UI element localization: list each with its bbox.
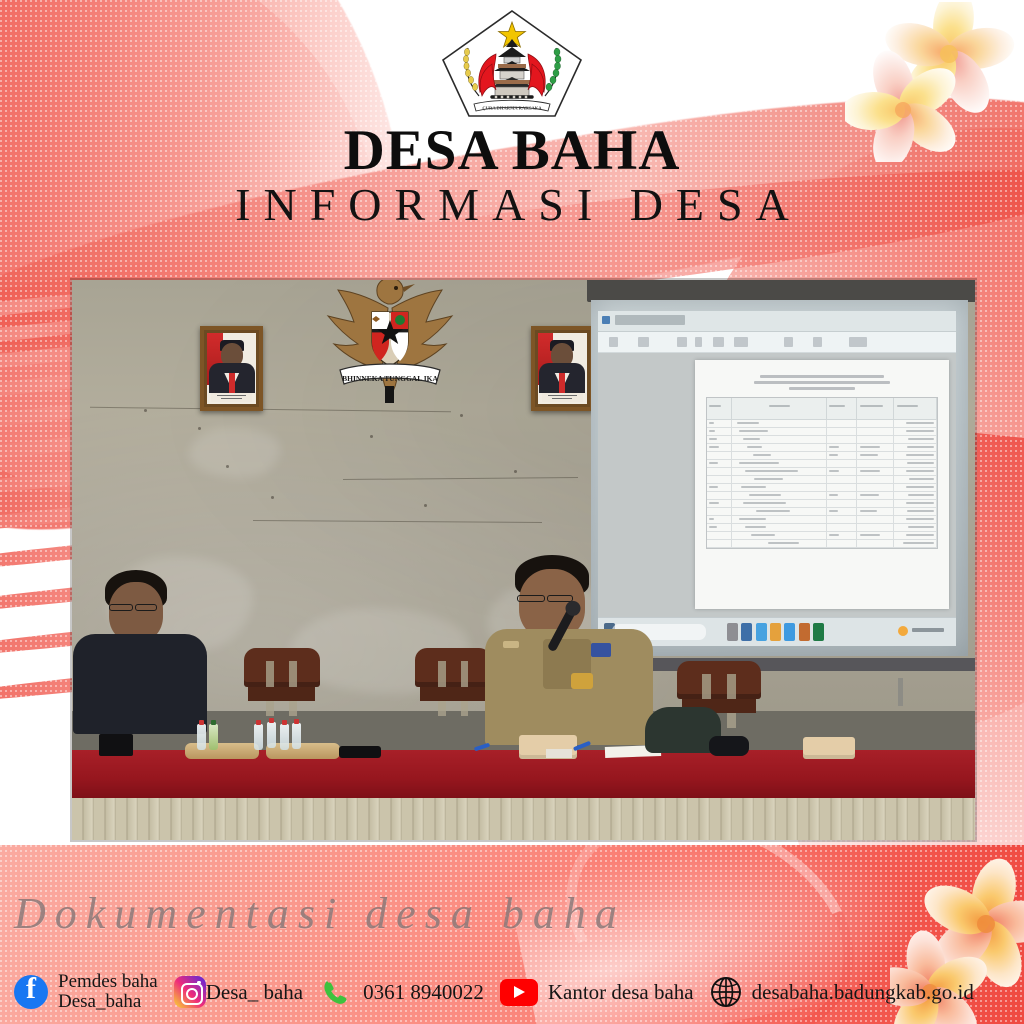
facebook-handle: Pemdes baha Desa_baha	[58, 972, 158, 1012]
globe-icon	[710, 976, 742, 1008]
footer-item-youtube[interactable]: Kantor desa baha	[500, 979, 694, 1006]
contact-footer: Pemdes baha Desa_baha Desa_ baha 0361 89…	[0, 960, 1024, 1024]
instagram-icon	[174, 976, 206, 1008]
projected-window-titlebar	[598, 311, 956, 333]
footer-item-whatsapp[interactable]: 0361 8940022	[319, 975, 484, 1009]
svg-text:BHINNEKA TUNGGAL IKA: BHINNEKA TUNGGAL IKA	[342, 374, 438, 383]
instagram-handle: Desa_ baha	[206, 981, 303, 1003]
table-header-row	[707, 398, 938, 420]
facebook-handle-line2: Desa_baha	[58, 991, 141, 1012]
snack-basket	[185, 743, 259, 759]
projector-screen-roller	[587, 280, 975, 302]
projected-doc-table	[706, 397, 939, 549]
facebook-handle-line1: Pemdes baha	[58, 971, 158, 992]
footer-item-website[interactable]: desabaha.badungkab.go.id	[710, 976, 974, 1008]
table-row	[707, 460, 938, 468]
whatsapp-number: 0361 8940022	[363, 981, 484, 1003]
vice-president-portrait-frame	[531, 326, 594, 411]
jacket-on-table	[709, 736, 749, 756]
snack-basket	[266, 743, 340, 759]
youtube-channel: Kantor desa baha	[548, 981, 694, 1003]
wristwatch	[571, 673, 593, 689]
projected-window-toolbar	[598, 332, 956, 352]
page-subtitle: INFORMASI DESA	[0, 182, 1024, 228]
table-row	[707, 508, 938, 516]
table-row	[707, 516, 938, 524]
person-seated-left	[81, 564, 211, 734]
table-row	[707, 524, 938, 532]
footer-item-instagram[interactable]: Desa_ baha	[174, 976, 303, 1008]
badung-regency-crest-icon: ÇURA DHARMA RAKSAKA	[438, 8, 586, 120]
table-row	[707, 468, 938, 476]
photo-content: BHINNEKA TUNGGAL IKA	[72, 280, 975, 840]
table-skirt	[72, 798, 975, 840]
tissue-box	[803, 737, 855, 759]
table-row	[707, 452, 938, 460]
garuda-pancasila-emblem-icon: BHINNEKA TUNGGAL IKA	[320, 280, 460, 404]
table-row	[707, 484, 938, 492]
table-row	[707, 428, 938, 436]
table-row	[707, 532, 938, 540]
photo-caption: Dokumentasi desa baha	[14, 884, 914, 944]
footer-item-facebook[interactable]: Pemdes baha Desa_baha	[14, 972, 158, 1012]
table-total-row	[707, 540, 938, 548]
documentation-photo: BHINNEKA TUNGGAL IKA	[72, 280, 975, 840]
youtube-icon	[500, 979, 538, 1006]
facebook-icon	[14, 975, 48, 1009]
table-row	[707, 444, 938, 452]
projected-spreadsheet-page	[695, 360, 949, 609]
poster-canvas: ÇURA DHARMA RAKSAKA DESA BAHA INFORMASI …	[0, 0, 1024, 1024]
projected-doc-title	[750, 375, 894, 390]
screen-pull-cord	[898, 678, 903, 706]
svg-text:ÇURA DHARMA RAKSAKA: ÇURA DHARMA RAKSAKA	[482, 105, 542, 110]
poster-header: ÇURA DHARMA RAKSAKA DESA BAHA INFORMASI …	[0, 0, 1024, 265]
website-url: desabaha.badungkab.go.id	[752, 981, 974, 1003]
table-row	[707, 420, 938, 428]
chair	[415, 648, 491, 734]
table-row	[707, 476, 938, 484]
president-portrait-frame	[200, 326, 263, 411]
paper-document	[546, 749, 572, 758]
mobile-phone-on-table	[339, 746, 381, 758]
person-speaking-right	[487, 555, 657, 745]
table-row	[707, 492, 938, 500]
uniform-badge	[591, 643, 611, 657]
table-row	[707, 500, 938, 508]
table-row	[707, 436, 938, 444]
page-title: DESA BAHA	[0, 122, 1024, 179]
tablet-on-table	[99, 734, 133, 756]
whatsapp-icon	[319, 975, 353, 1009]
